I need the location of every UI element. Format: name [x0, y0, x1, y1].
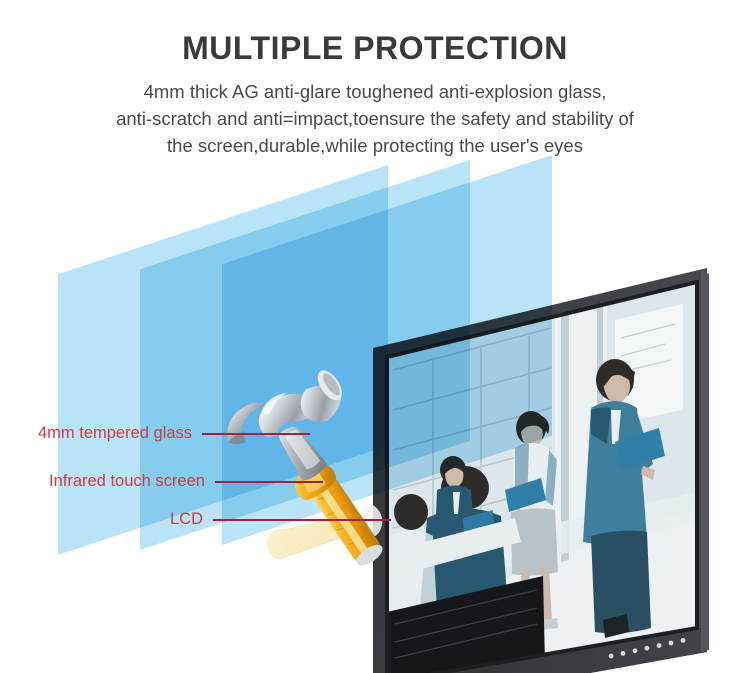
infographic-slide: MULTIPLE PROTECTION 4mm thick AG anti-gl… [0, 0, 750, 673]
annotation-lcd-label: LCD [170, 510, 203, 529]
annotation-lcd: LCD [170, 510, 391, 529]
annotation-touch-label: Infrared touch screen [49, 472, 205, 491]
subtitle-line-2: anti-scratch and anti=impact,toensure th… [55, 105, 695, 132]
page-subtitle: 4mm thick AG anti-glare toughened anti-e… [55, 78, 695, 159]
annotation-glass-label: 4mm tempered glass [38, 424, 192, 443]
annotation-glass: 4mm tempered glass [38, 424, 310, 443]
leader-line-1 [202, 433, 310, 435]
exploded-layer-diagram: 4mm tempered glass Infrared touch screen… [0, 165, 750, 665]
leader-line-2 [215, 481, 323, 483]
subtitle-line-1: 4mm thick AG anti-glare toughened anti-e… [55, 78, 695, 105]
annotation-touch: Infrared touch screen [49, 472, 323, 491]
page-title: MULTIPLE PROTECTION [0, 30, 750, 67]
monitor-right-edge [701, 270, 709, 652]
leader-line-3 [213, 519, 391, 521]
